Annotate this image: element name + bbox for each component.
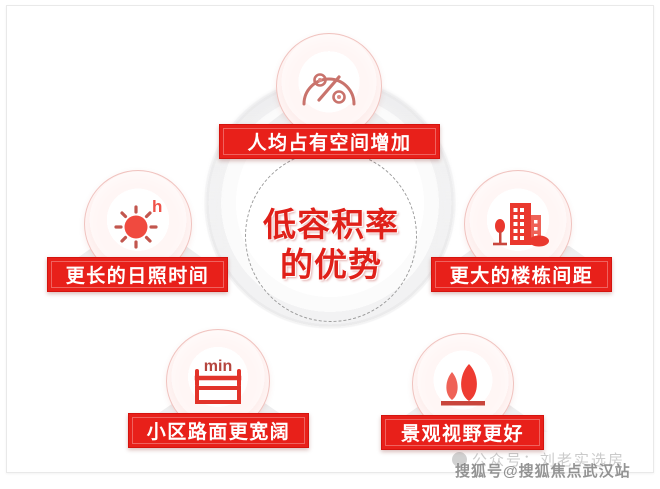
svg-text:min: min bbox=[204, 358, 232, 375]
sun-hours-icon: h bbox=[107, 195, 169, 253]
center-title: 低容积率 的优势 bbox=[228, 205, 434, 286]
node-left-label-plate[interactable]: 更长的日照时间 bbox=[47, 257, 228, 292]
center-title-line-1: 低容积率 bbox=[263, 206, 399, 243]
node-right-label-plate[interactable]: 更大的楼栋间距 bbox=[431, 257, 612, 292]
node-bottom-left-label: 小区路面更宽阔 bbox=[147, 417, 291, 444]
svg-text:h: h bbox=[152, 197, 162, 216]
node-bottom-left-label-plate[interactable]: 小区路面更宽阔 bbox=[128, 413, 309, 448]
node-bottom-right-label-plate[interactable]: 景观视野更好 bbox=[381, 415, 544, 450]
buildings-icon bbox=[486, 195, 550, 253]
node-top-label: 人均占有空间增加 bbox=[247, 128, 411, 155]
center-title-line-2: 的优势 bbox=[228, 245, 434, 285]
diagram-stage: 低容积率 的优势 人均占有空间增加 bbox=[0, 0, 660, 489]
node-right-label: 更大的楼栋间距 bbox=[450, 261, 594, 288]
infographic-screen: 低容积率 的优势 人均占有空间增加 bbox=[0, 0, 660, 489]
node-left-label: 更长的日照时间 bbox=[66, 261, 210, 288]
road-width-icon: min bbox=[187, 352, 249, 410]
node-top-label-plate[interactable]: 人均占有空间增加 bbox=[219, 124, 440, 159]
node-bottom-right-label: 景观视野更好 bbox=[401, 419, 524, 446]
watermark-sohu: 搜狐号@搜狐焦点武汉站 bbox=[455, 460, 631, 481]
percent-gauge-icon bbox=[298, 60, 360, 112]
trees-landscape-icon bbox=[432, 356, 494, 412]
